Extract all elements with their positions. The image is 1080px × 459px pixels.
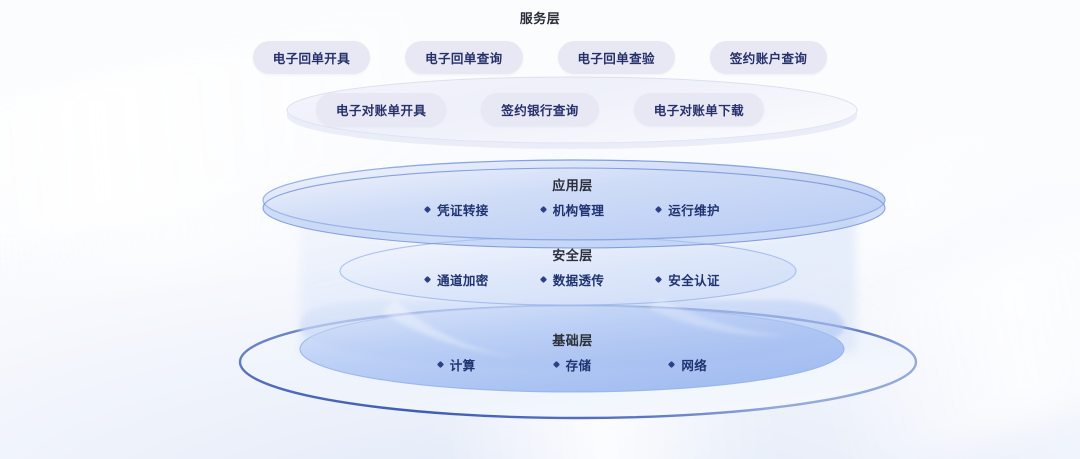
diamond-bullet-icon	[424, 276, 431, 283]
layer-title-service: 服务层	[0, 8, 1080, 27]
feature-item: 机构管理	[541, 200, 605, 219]
diamond-bullet-icon	[424, 206, 431, 213]
feature-item: 网络	[669, 355, 707, 374]
chip-service-item[interactable]: 电子回单查询	[405, 41, 522, 74]
feature-label: 网络	[681, 355, 707, 374]
diamond-bullet-icon	[437, 361, 444, 368]
diamond-bullet-icon	[655, 276, 662, 283]
feature-label: 安全认证	[668, 270, 720, 289]
feature-item: 安全认证	[656, 270, 720, 289]
feature-label: 计算	[450, 355, 476, 374]
feature-item: 数据透传	[541, 270, 605, 289]
foundation-feature-row: 计算 存储 网络	[0, 355, 1080, 374]
security-feature-row: 通道加密 数据透传 安全认证	[0, 270, 1080, 289]
chip-service-item[interactable]: 签约账户查询	[710, 41, 827, 74]
chip-service-item[interactable]: 电子对账单下载	[634, 93, 764, 126]
diamond-bullet-icon	[540, 206, 547, 213]
layer-title-foundation: 基础层	[0, 330, 1080, 349]
feature-item: 运行维护	[656, 200, 720, 219]
feature-item: 凭证转接	[425, 200, 489, 219]
chip-service-item[interactable]: 签约银行查询	[481, 93, 598, 126]
diamond-bullet-icon	[553, 361, 560, 368]
feature-item: 通道加密	[425, 270, 489, 289]
feature-item: 存储	[554, 355, 592, 374]
architecture-diagram: 服务层 电子回单开具 电子回单查询 电子回单查验 签约账户查询 电子对账单开具 …	[0, 0, 1080, 459]
service-chip-row-2: 电子对账单开具 签约银行查询 电子对账单下载	[0, 93, 1080, 126]
feature-label: 机构管理	[553, 200, 605, 219]
feature-label: 通道加密	[437, 270, 489, 289]
layer-title-application: 应用层	[0, 175, 1080, 194]
diamond-bullet-icon	[540, 276, 547, 283]
feature-item: 计算	[438, 355, 476, 374]
chip-service-item[interactable]: 电子回单开具	[253, 41, 370, 74]
application-feature-row: 凭证转接 机构管理 运行维护	[0, 200, 1080, 219]
service-chip-row-1: 电子回单开具 电子回单查询 电子回单查验 签约账户查询	[0, 41, 1080, 74]
diamond-bullet-icon	[655, 206, 662, 213]
layer-title-security: 安全层	[0, 245, 1080, 264]
diamond-bullet-icon	[668, 361, 675, 368]
feature-label: 存储	[566, 355, 592, 374]
chip-service-item[interactable]: 电子对账单开具	[316, 93, 446, 126]
feature-label: 数据透传	[553, 270, 605, 289]
chip-service-item[interactable]: 电子回单查验	[558, 41, 675, 74]
feature-label: 凭证转接	[437, 200, 489, 219]
feature-label: 运行维护	[668, 200, 720, 219]
